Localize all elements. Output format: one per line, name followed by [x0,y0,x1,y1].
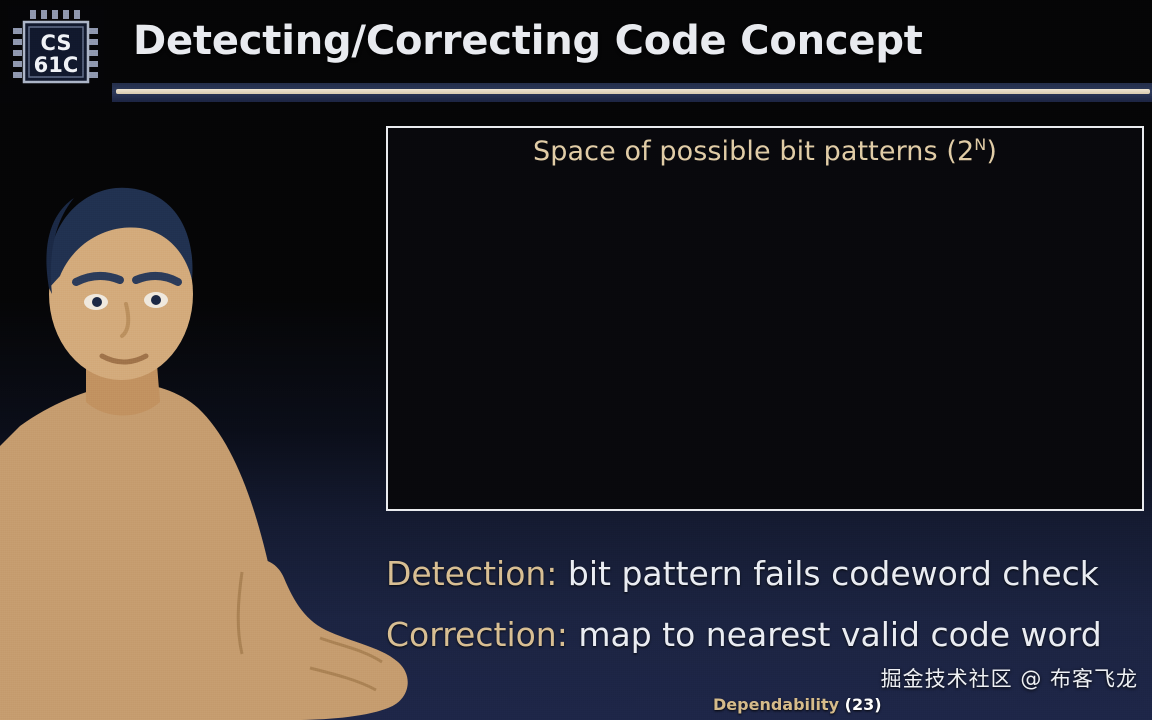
slide-header: CS 61C Detecting/Correcting Code Concept [0,0,1152,106]
bullet-detection: Detection: bit pattern fails codeword ch… [386,543,1152,604]
bit-pattern-space-label: Space of possible bit patterns (2N) [388,136,1142,167]
bit-pattern-space-label-text: Space of possible bit patterns (2 [533,136,974,167]
slide-canvas: CS 61C Detecting/Correcting Code Concept… [0,0,1152,720]
bullet-correction-text: map to nearest valid code word [568,615,1102,654]
presenter-hand [219,559,408,720]
title-divider [112,83,1152,103]
watermark: 掘金技术社区 @ 布客飞龙 [881,663,1138,693]
bullet-detection-keyword: Detection: [386,554,557,593]
logo-text-cs: CS [41,31,72,55]
bit-pattern-space-label-exponent: N [974,135,986,154]
bit-pattern-space-box: Space of possible bit patterns (2N) [386,126,1144,511]
bit-pattern-space-label-tail: ) [986,136,997,167]
bullet-correction: Correction: map to nearest valid code wo… [386,604,1152,665]
footer-slide-number: (23) [845,695,882,714]
logo-text-61c: 61C [34,53,79,77]
title-divider-left-mask [0,84,112,103]
bullet-detection-text: bit pattern fails codeword check [557,554,1098,593]
page-title: Detecting/Correcting Code Concept [133,18,923,64]
title-divider-line [116,89,1150,94]
footer-topic: Dependability [713,695,839,714]
bullet-correction-keyword: Correction: [386,615,568,654]
footer-status: Dependability (23) [713,695,882,714]
bullet-list: Detection: bit pattern fails codeword ch… [386,543,1152,665]
